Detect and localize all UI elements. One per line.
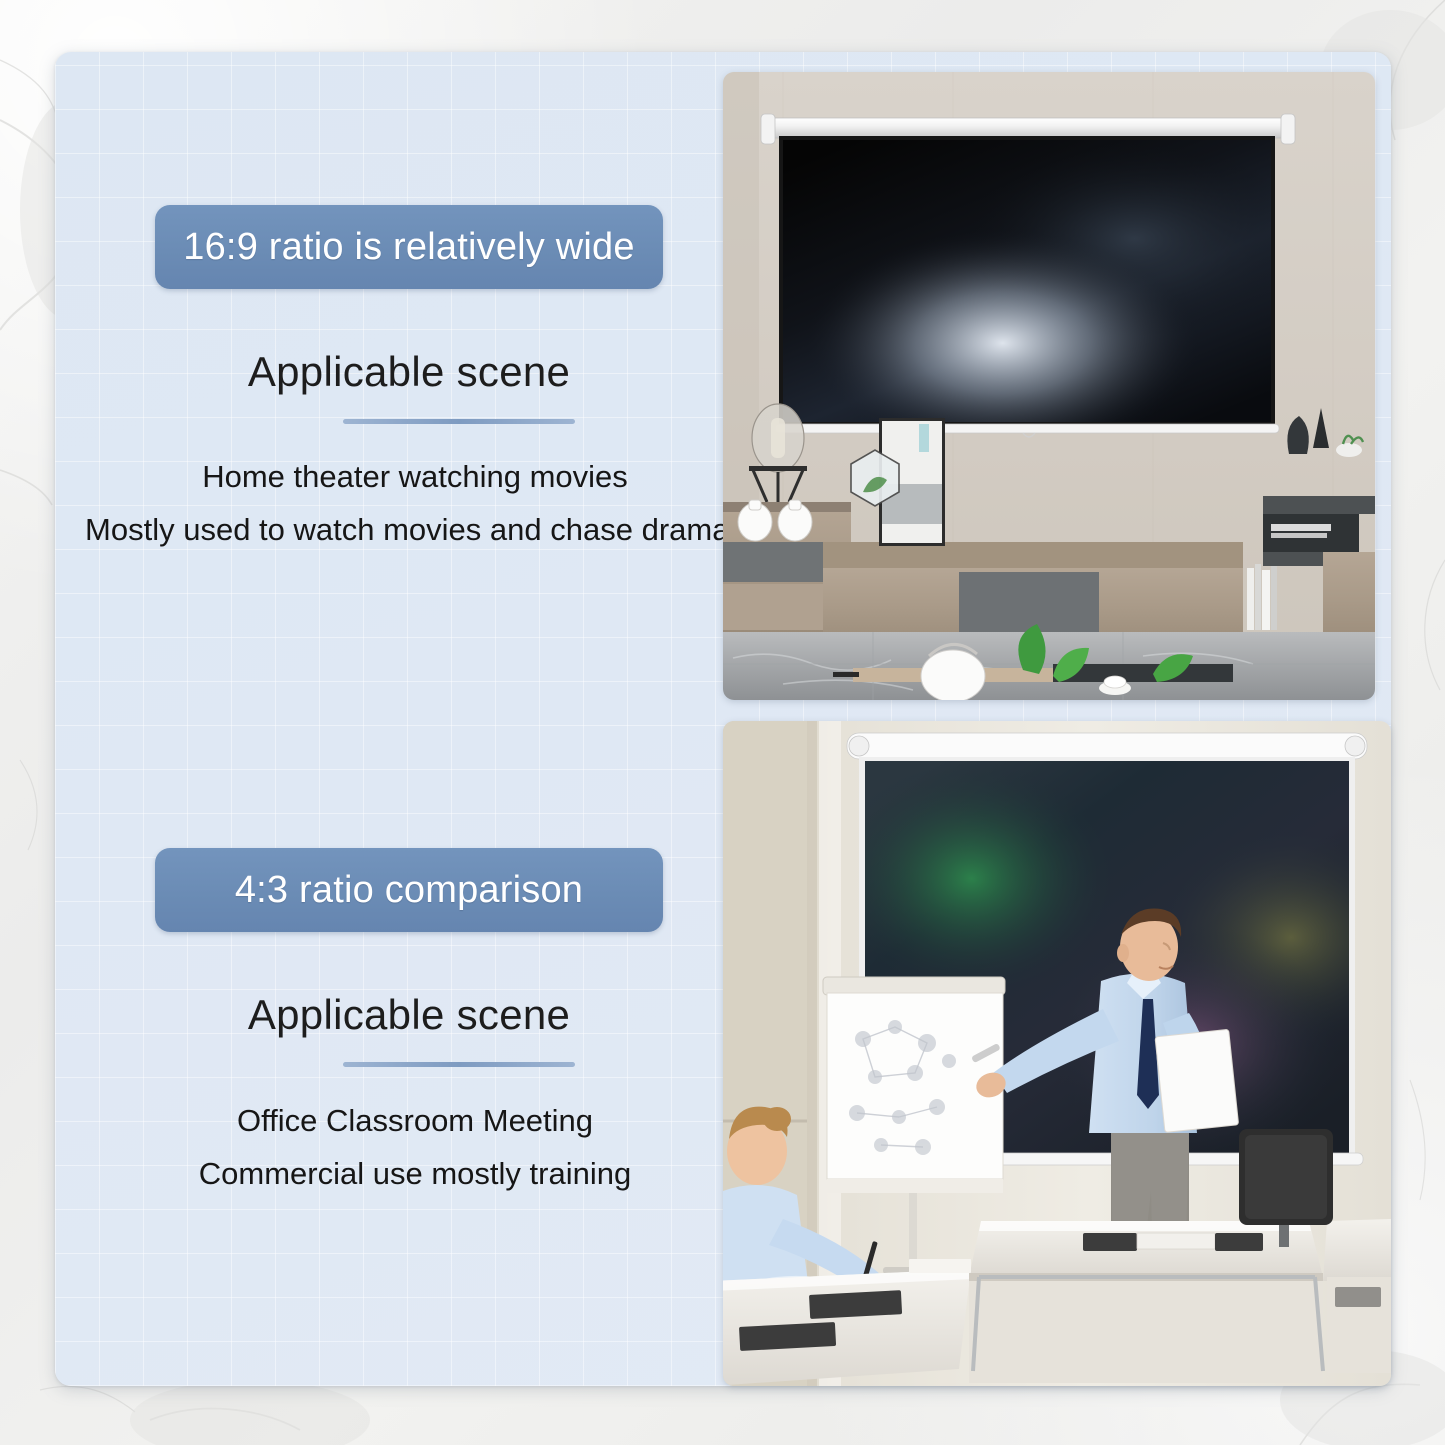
home-theater-photo (723, 72, 1375, 700)
scene-description-line: Office Classroom Meeting (65, 1094, 765, 1147)
applicable-scene-heading-4-3: Applicable scene (155, 991, 663, 1039)
heading-divider-16-9 (343, 419, 575, 424)
office-meeting-illustration (723, 721, 1391, 1386)
applicable-scene-heading-16-9: Applicable scene (155, 348, 663, 396)
infographic-card: 16:9 ratio is relatively wide Applicable… (55, 52, 1391, 1386)
heading-divider-4-3 (343, 1062, 575, 1067)
scene-description-line: Commercial use mostly training (65, 1147, 765, 1200)
scene-description-line: Home theater watching movies (65, 450, 765, 503)
ratio-banner-16-9: 16:9 ratio is relatively wide (155, 205, 663, 289)
ratio-banner-16-9-label: 16:9 ratio is relatively wide (183, 226, 634, 269)
scene-description-line: Mostly used to watch movies and chase dr… (65, 503, 765, 556)
ratio-banner-4-3-label: 4:3 ratio comparison (235, 869, 583, 912)
ratio-banner-4-3: 4:3 ratio comparison (155, 848, 663, 932)
home-theater-illustration (723, 72, 1375, 700)
office-meeting-photo (723, 721, 1391, 1386)
scene-description-16-9: Home theater watching movies Mostly used… (65, 450, 765, 556)
scene-description-4-3: Office Classroom Meeting Commercial use … (65, 1094, 765, 1200)
